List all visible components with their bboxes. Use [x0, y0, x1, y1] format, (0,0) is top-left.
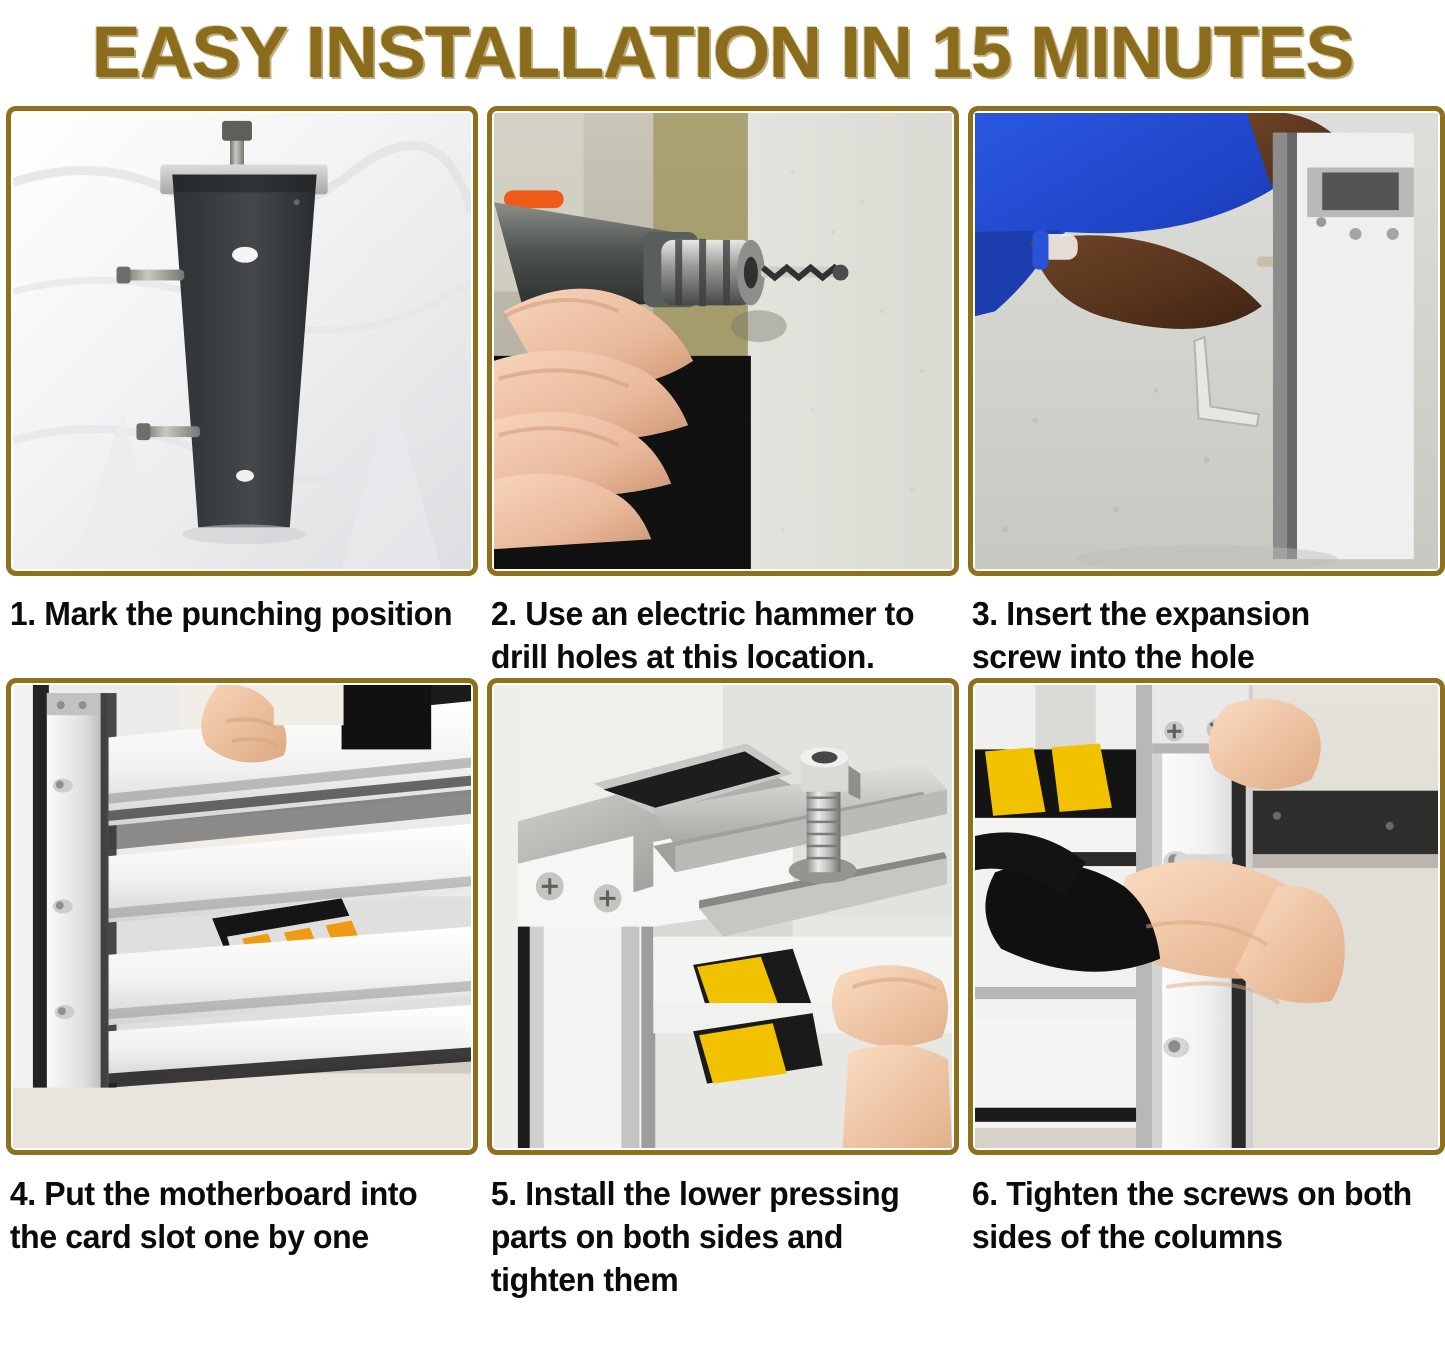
step-card-4: 4. Put the motherboard into the card slo…	[6, 678, 478, 1301]
photo-frame-2	[487, 106, 959, 576]
illustration-insert-boards-into-slot	[13, 685, 471, 1148]
step-caption-6: 6. Tighten the screws on both sides of t…	[968, 1155, 1431, 1258]
installation-steps-grid: 1. Mark the punching position	[0, 106, 1445, 1301]
photo-mark-punching-position	[13, 113, 471, 569]
step-caption-5: 5. Install the lower pressing parts on b…	[487, 1155, 945, 1301]
photo-frame-1	[6, 106, 478, 576]
illustration-install-lower-pressing-parts	[494, 685, 952, 1148]
illustration-drill-holes	[494, 113, 952, 569]
step-card-6: 6. Tighten the screws on both sides of t…	[968, 678, 1445, 1301]
photo-frame-5	[487, 678, 959, 1155]
photo-drill-holes	[494, 113, 952, 569]
illustration-tighten-column-screws	[975, 685, 1438, 1148]
step-caption-4: 4. Put the motherboard into the card slo…	[6, 1155, 464, 1258]
step-card-2: 2. Use an electric hammer to drill holes…	[487, 106, 959, 678]
step-caption-1: 1. Mark the punching position	[6, 576, 464, 635]
step-card-3: 3. Insert the expansion screw into the h…	[968, 106, 1445, 678]
illustration-insert-expansion-screw	[975, 113, 1438, 569]
photo-install-lower-pressing-parts	[494, 685, 952, 1148]
step-caption-2: 2. Use an electric hammer to drill holes…	[487, 576, 945, 678]
photo-frame-6	[968, 678, 1445, 1155]
illustration-mark-punching-position	[13, 113, 471, 569]
page-header: EASY INSTALLATION IN 15 MINUTES	[0, 0, 1445, 106]
photo-insert-expansion-screw	[975, 113, 1438, 569]
step-card-5: 5. Install the lower pressing parts on b…	[487, 678, 959, 1301]
step-card-1: 1. Mark the punching position	[6, 106, 478, 678]
photo-insert-boards-into-slot	[13, 685, 471, 1148]
photo-tighten-column-screws	[975, 685, 1438, 1148]
page-title: EASY INSTALLATION IN 15 MINUTES	[92, 17, 1354, 89]
photo-frame-4	[6, 678, 478, 1155]
photo-frame-3	[968, 106, 1445, 576]
step-caption-3: 3. Insert the expansion screw into the h…	[968, 576, 1431, 678]
